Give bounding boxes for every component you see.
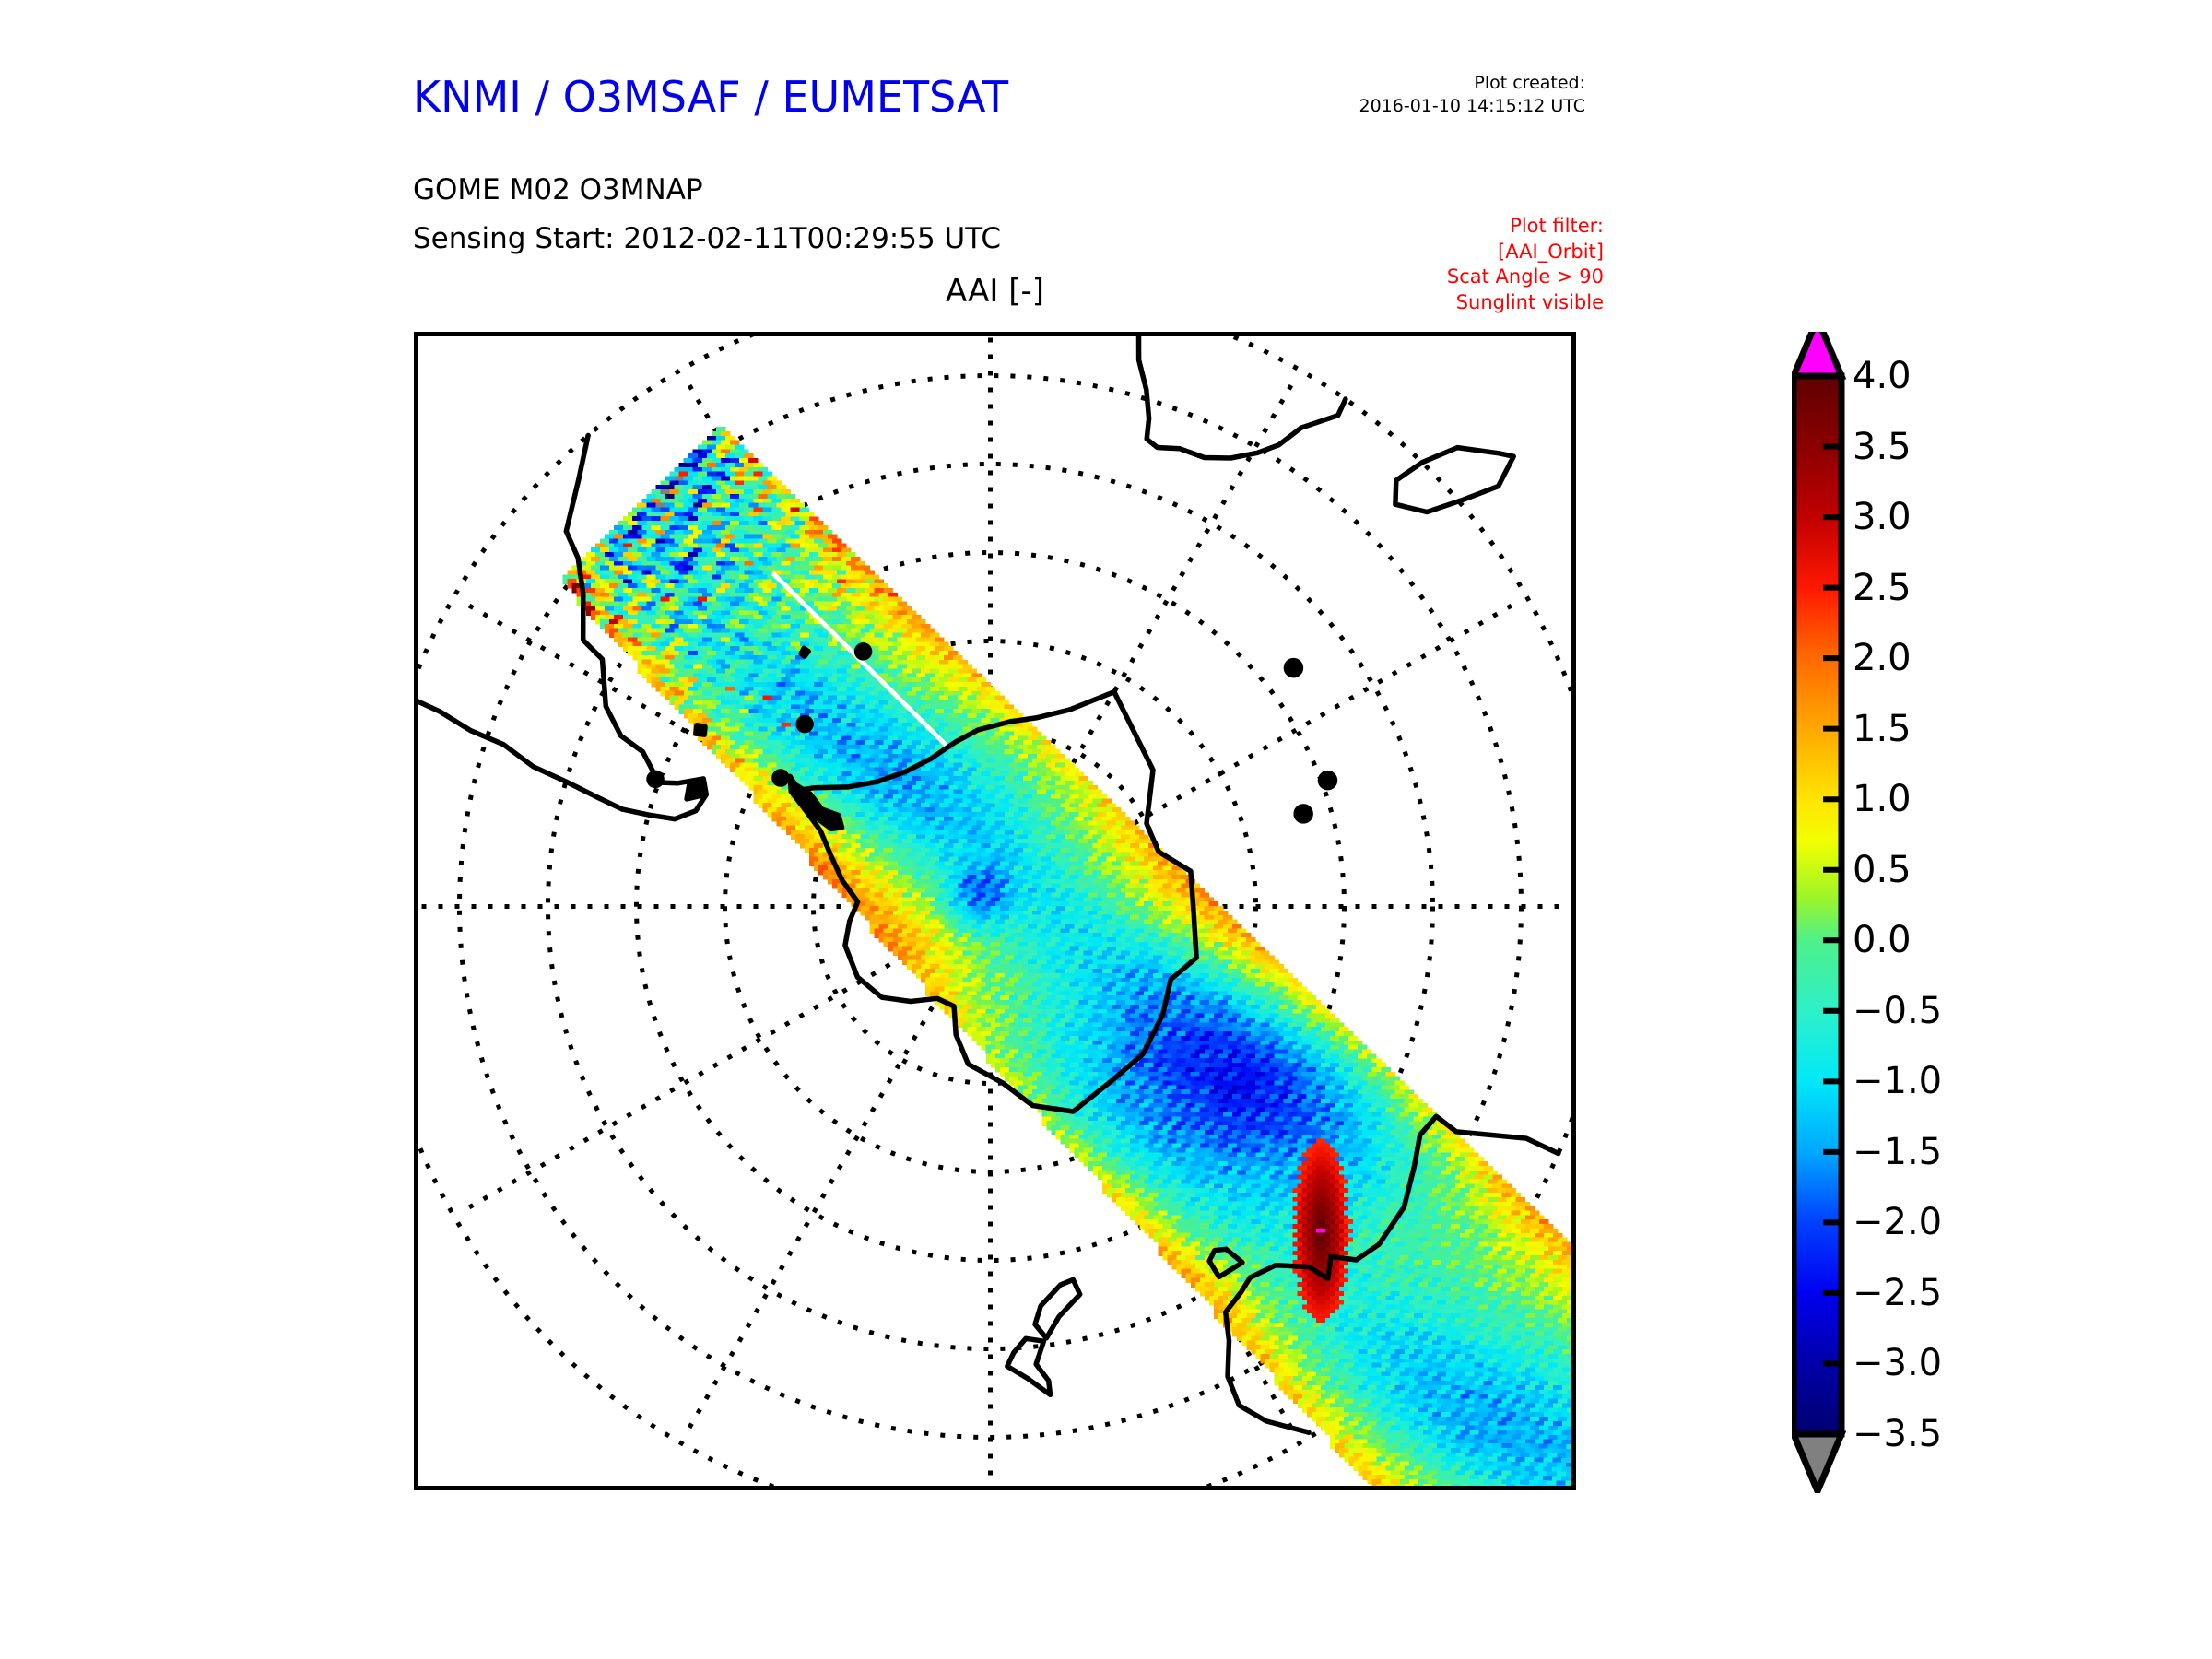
colorbar-tick-label: −2.5 <box>1853 1272 1942 1314</box>
colorbar-tick-label: 2.5 <box>1853 567 1912 609</box>
colorbar-canvas <box>1792 332 2179 1493</box>
island-marker <box>774 771 787 784</box>
colorbar-tick-label: 2.0 <box>1853 637 1912 679</box>
colorbar-tick-label: 0.0 <box>1853 919 1912 961</box>
island-marker <box>1286 661 1300 676</box>
plot-created-label: Plot created: <box>1290 72 1585 95</box>
colorbar-tick-label: 4.0 <box>1853 355 1912 397</box>
colorbar-tick-label: −3.5 <box>1853 1413 1942 1455</box>
island-marker <box>798 718 811 731</box>
sensing-start-line: Sensing Start: 2012-02-11T00:29:55 UTC <box>413 222 1001 255</box>
colorbar-tick-label: 1.5 <box>1853 708 1912 750</box>
colorbar-tick-label: −3.0 <box>1853 1342 1942 1384</box>
plot-filter-block: Plot filter: [AAI_Orbit] Scat Angle > 90… <box>1327 214 1604 316</box>
organisation-title: KNMI / O3MSAF / EUMETSAT <box>413 72 1008 122</box>
coastline <box>1395 448 1513 512</box>
island-marker <box>857 645 870 658</box>
plot-filter-line-1: Plot filter: <box>1327 214 1604 240</box>
plot-page: KNMI / O3MSAF / EUMETSAT Plot created: 2… <box>0 0 2212 1659</box>
plot-filter-line-4: Sunglint visible <box>1327 290 1604 316</box>
coastline <box>687 783 704 799</box>
colorbar-tick-label: 3.0 <box>1853 496 1912 538</box>
colorbar[interactable]: 4.03.53.02.52.01.51.00.50.0−0.5−1.0−1.5−… <box>1792 332 2179 1493</box>
island-marker <box>1296 806 1311 821</box>
plot-filter-line-3: Scat Angle > 90 <box>1327 265 1604 290</box>
island-marker <box>649 772 662 785</box>
colorbar-tick-label: −1.0 <box>1853 1060 1942 1102</box>
colorbar-tick-label: 3.5 <box>1853 426 1912 468</box>
satellite-swath-layer <box>563 427 1576 1490</box>
colorbar-tick-label: −1.5 <box>1853 1131 1942 1173</box>
coastline <box>801 648 808 656</box>
colorbar-tick-label: 0.5 <box>1853 849 1912 891</box>
coastline <box>1130 332 1346 458</box>
map-canvas <box>414 332 1576 1490</box>
colorbar-tick-label: −0.5 <box>1853 990 1942 1032</box>
coastline <box>1035 1279 1080 1338</box>
plot-created-value: 2016-01-10 14:15:12 UTC <box>1290 95 1585 118</box>
island-marker <box>1320 773 1335 788</box>
colorbar-tick-label: 1.0 <box>1853 778 1912 820</box>
map-plot-panel[interactable] <box>414 332 1576 1490</box>
colorbar-tick-label: −2.0 <box>1853 1201 1942 1243</box>
coastline <box>696 725 705 735</box>
coastline <box>1007 1338 1051 1394</box>
instrument-line: GOME M02 O3MNAP <box>413 173 703 206</box>
plot-created-block: Plot created: 2016-01-10 14:15:12 UTC <box>1290 72 1585 117</box>
plot-filter-line-2: [AAI_Orbit] <box>1327 240 1604 265</box>
